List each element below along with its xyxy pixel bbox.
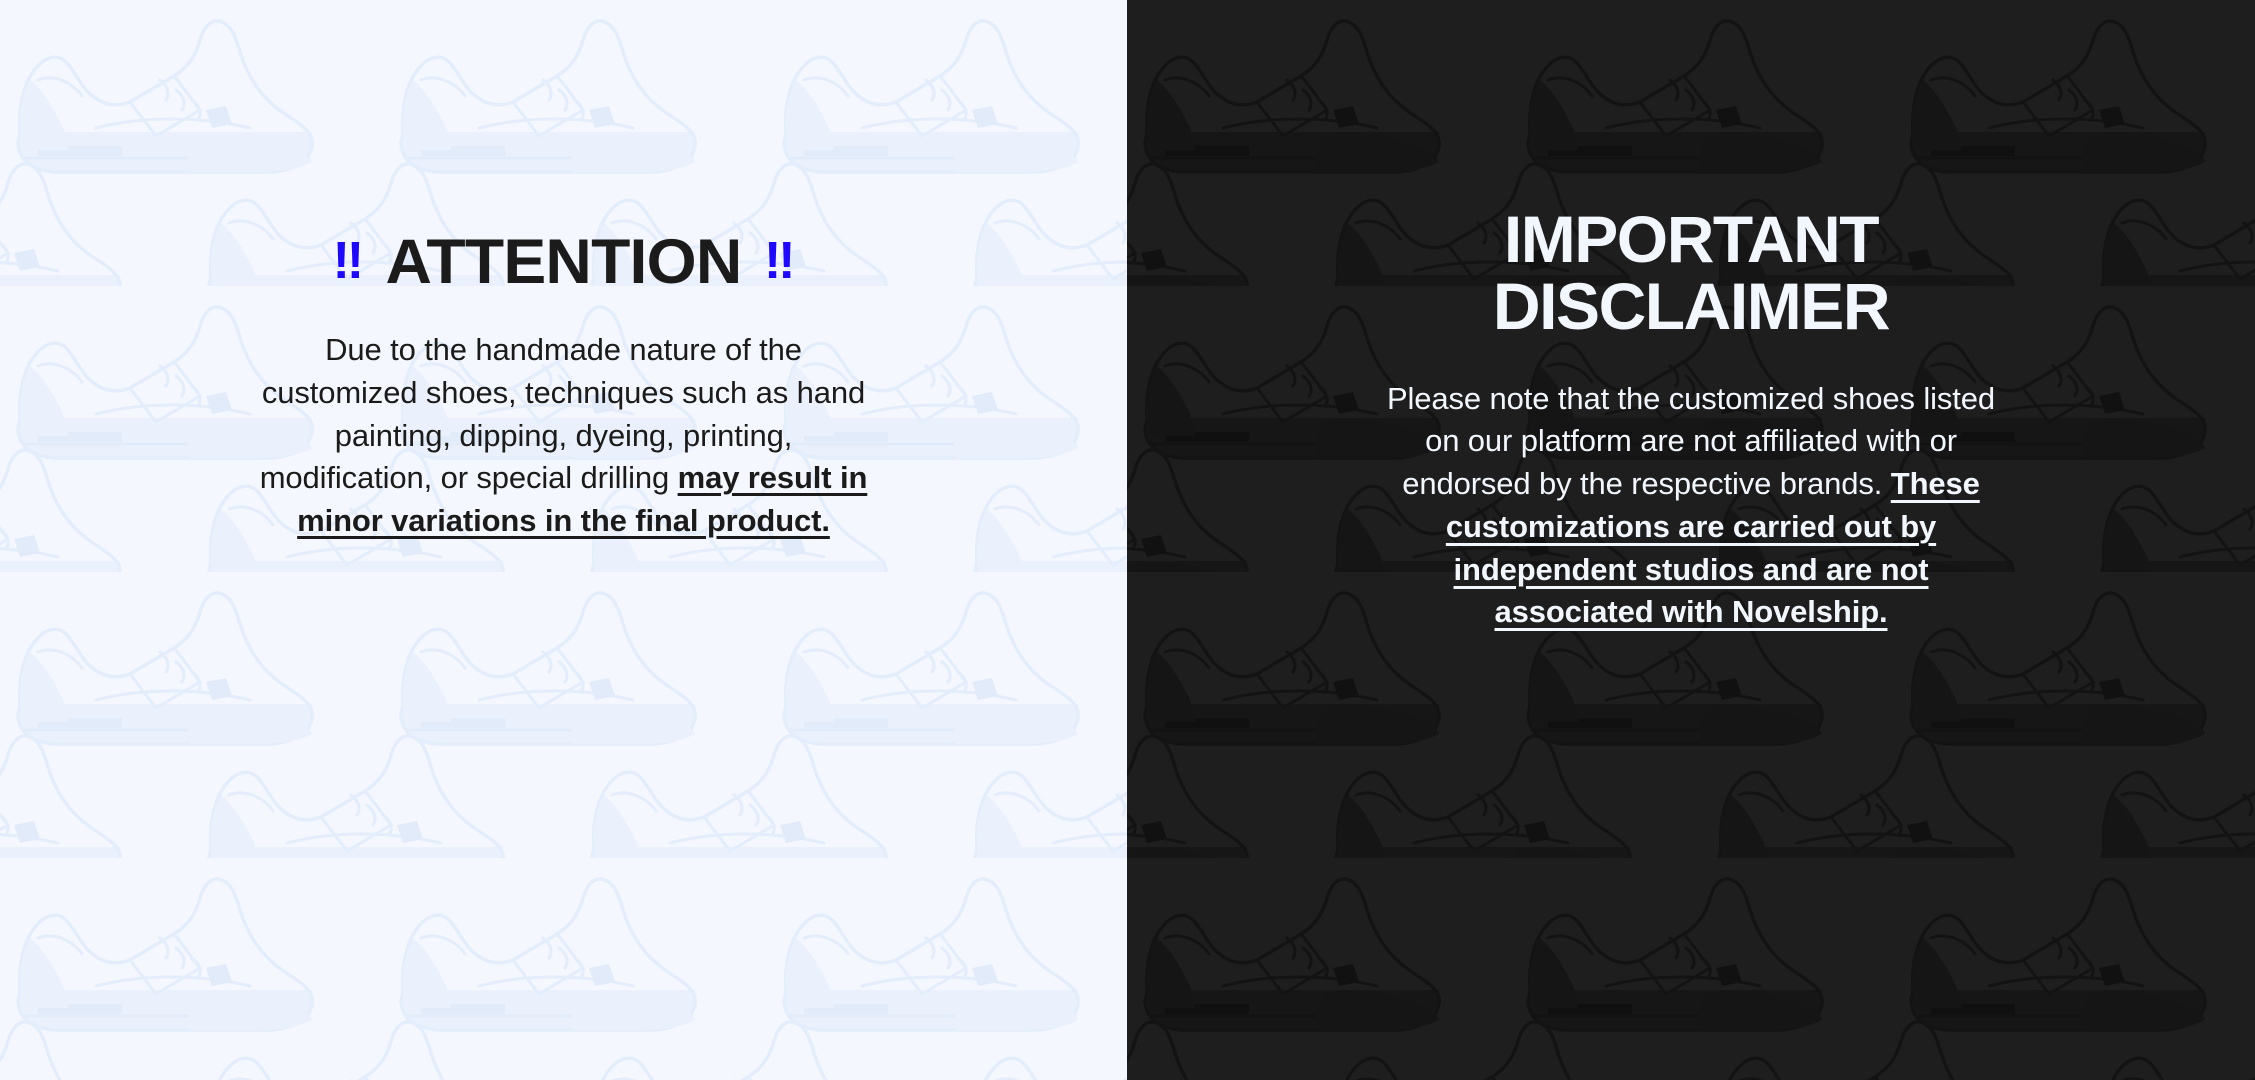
disclaimer-headline: IMPORTANT DISCLAIMER (1261, 206, 2121, 341)
disclaimer-panel: IMPORTANT DISCLAIMER Please note that th… (1127, 0, 2255, 1080)
attention-content: ‼ ATTENTION ‼ Due to the handmade nature… (134, 232, 994, 543)
bang-right-icon: ‼ (764, 235, 794, 287)
bang-left-icon: ‼ (333, 235, 363, 287)
disclaimer-headline-line1: IMPORTANT (1261, 206, 2121, 273)
attention-headline-word: ATTENTION (386, 232, 742, 293)
disclaimer-content: IMPORTANT DISCLAIMER Please note that th… (1261, 206, 2121, 634)
attention-panel: ‼ ATTENTION ‼ Due to the handmade nature… (0, 0, 1127, 1080)
split-banner: ‼ ATTENTION ‼ Due to the handmade nature… (0, 0, 2255, 1080)
disclaimer-headline-line2: DISCLAIMER (1261, 273, 2121, 340)
disclaimer-body: Please note that the customized shoes li… (1371, 378, 2011, 635)
attention-body: Due to the handmade nature of the custom… (259, 329, 869, 543)
attention-headline: ‼ ATTENTION ‼ (134, 232, 994, 293)
